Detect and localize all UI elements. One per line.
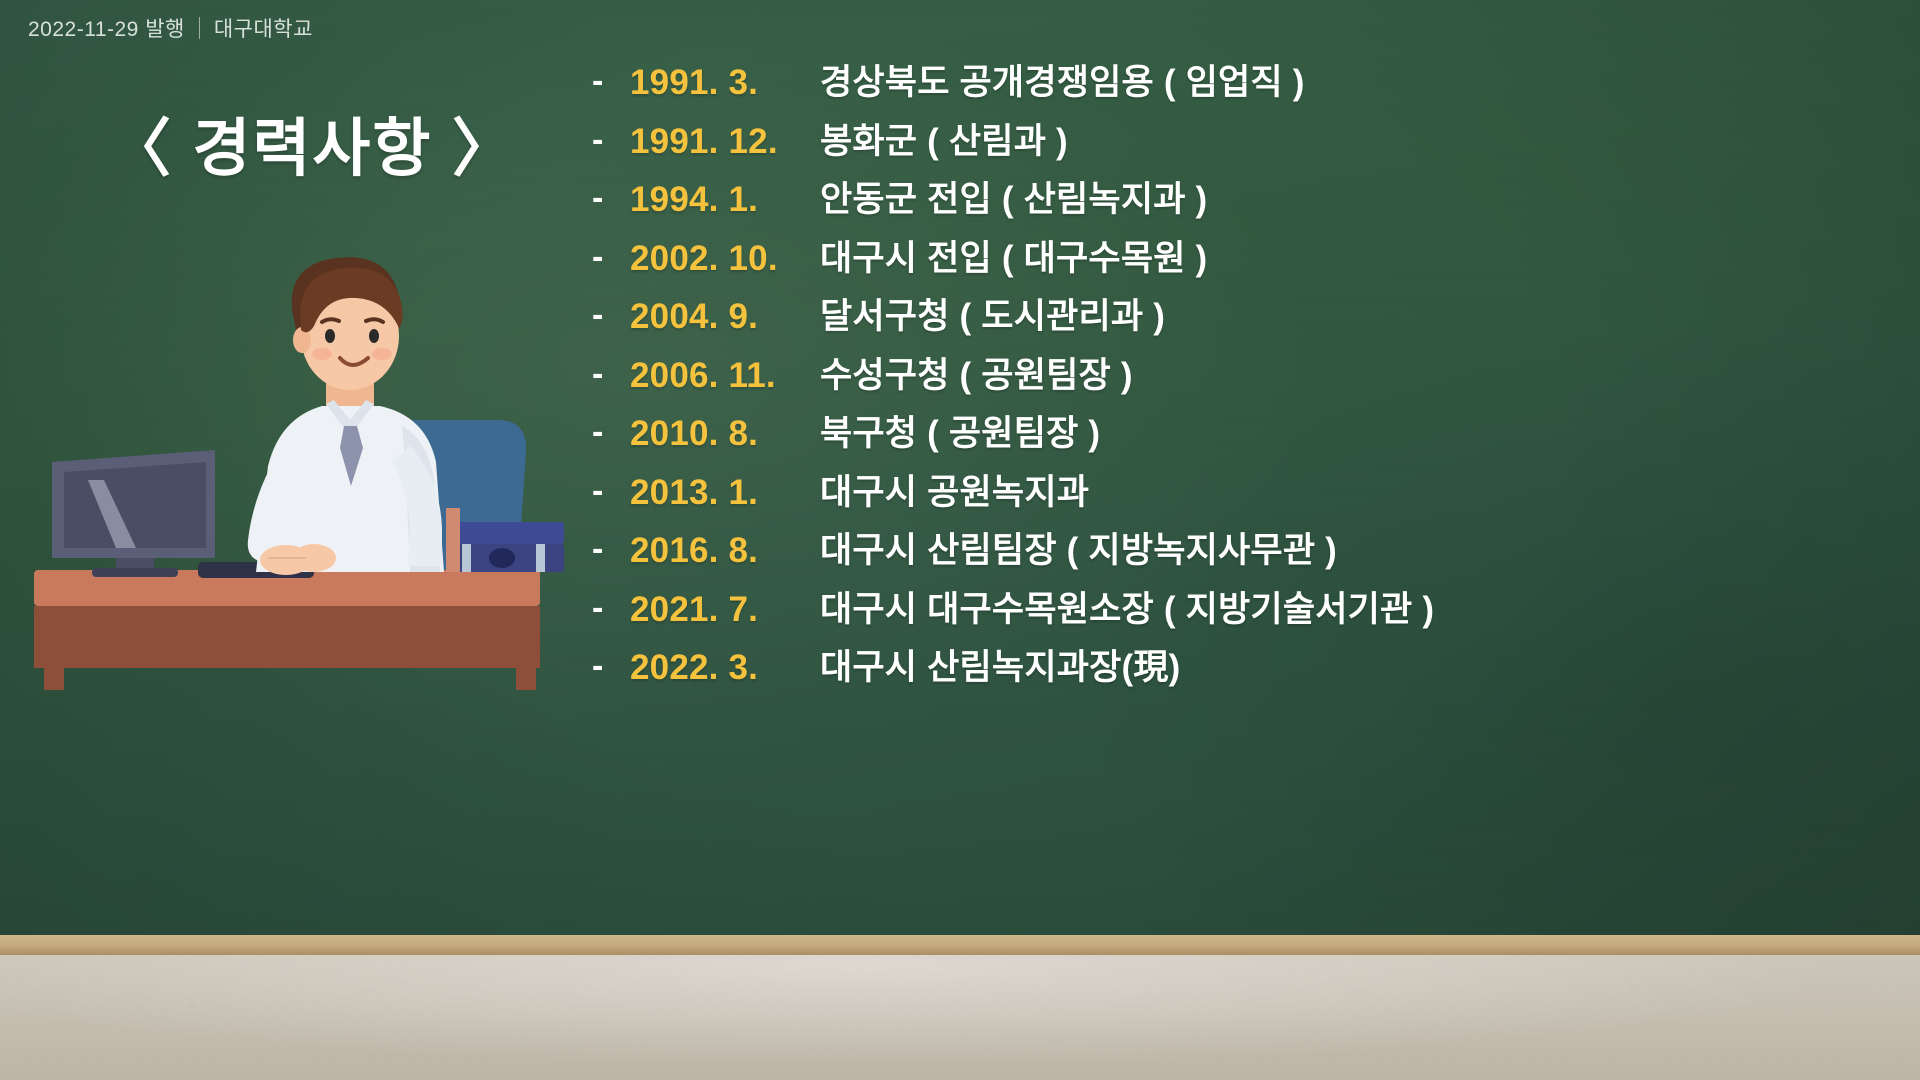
meta-divider xyxy=(199,17,200,39)
person-illustration xyxy=(248,257,444,575)
career-description: 달서구청 ( 도시관리과 ) xyxy=(820,288,1165,339)
publish-date: 2022-11-29 발행 xyxy=(28,13,185,43)
bullet-dash: - xyxy=(592,240,630,274)
list-item: - 2002. 10. 대구시 전입 ( 대구수목원 ) xyxy=(592,230,1892,289)
list-item: - 2022. 3. 대구시 산림녹지과장(現) xyxy=(592,639,1892,698)
list-item: - 2016. 8. 대구시 산림팀장 ( 지방녹지사무관 ) xyxy=(592,522,1892,581)
list-item: - 2013. 1. 대구시 공원녹지과 xyxy=(592,464,1892,523)
career-date: 1991. 3. xyxy=(630,63,820,103)
career-date: 2022. 3. xyxy=(630,648,820,688)
bullet-dash: - xyxy=(592,591,630,625)
bullet-dash: - xyxy=(592,532,630,566)
career-description: 북구청 ( 공원팀장 ) xyxy=(820,405,1100,456)
bullet-dash: - xyxy=(592,298,630,332)
bullet-dash: - xyxy=(592,123,630,157)
career-date: 2006. 11. xyxy=(630,356,820,396)
list-item: - 2004. 9. 달서구청 ( 도시관리과 ) xyxy=(592,288,1892,347)
career-description: 봉화군 ( 산림과 ) xyxy=(820,113,1068,164)
man-working-at-desk-illustration xyxy=(30,240,570,690)
slide-meta: 2022-11-29 발행 대구대학교 xyxy=(28,13,313,43)
list-item: - 1991. 12. 봉화군 ( 산림과 ) xyxy=(592,113,1892,172)
bullet-dash: - xyxy=(592,357,630,391)
career-date: 2013. 1. xyxy=(630,473,820,513)
wall-texture xyxy=(0,955,1920,1080)
career-description: 안동군 전입 ( 산림녹지과 ) xyxy=(820,171,1207,222)
career-date: 2004. 9. xyxy=(630,297,820,337)
career-date: 2002. 10. xyxy=(630,239,820,279)
list-item: - 2021. 7. 대구시 대구수목원소장 ( 지방기술서기관 ) xyxy=(592,581,1892,640)
career-date: 1991. 12. xyxy=(630,122,820,162)
wall-background xyxy=(0,955,1920,1080)
list-item: - 2010. 8. 북구청 ( 공원팀장 ) xyxy=(592,405,1892,464)
bullet-dash: - xyxy=(592,649,630,683)
chalkboard-ledge xyxy=(0,935,1920,955)
career-description: 수성구청 ( 공원팀장 ) xyxy=(820,347,1133,398)
organization-name: 대구대학교 xyxy=(214,13,313,43)
career-description: 대구시 전입 ( 대구수목원 ) xyxy=(820,230,1207,281)
presentation-slide: 2022-11-29 발행 대구대학교 〈 경력사항 〉 xyxy=(0,0,1920,1080)
bullet-dash: - xyxy=(592,64,630,98)
page-title: 〈 경력사항 〉 xyxy=(108,98,517,189)
career-history-list: - 1991. 3. 경상북도 공개경쟁임용 ( 임업직 ) - 1991. 1… xyxy=(592,54,1892,698)
career-description: 대구시 대구수목원소장 ( 지방기술서기관 ) xyxy=(820,581,1434,632)
career-description: 경상북도 공개경쟁임용 ( 임업직 ) xyxy=(820,54,1305,105)
career-description: 대구시 산림녹지과장(現) xyxy=(820,639,1180,690)
career-date: 1994. 1. xyxy=(630,180,820,220)
list-item: - 2006. 11. 수성구청 ( 공원팀장 ) xyxy=(592,347,1892,406)
list-item: - 1994. 1. 안동군 전입 ( 산림녹지과 ) xyxy=(592,171,1892,230)
bullet-dash: - xyxy=(592,181,630,215)
career-description: 대구시 산림팀장 ( 지방녹지사무관 ) xyxy=(820,522,1337,573)
career-date: 2016. 8. xyxy=(630,531,820,571)
bullet-dash: - xyxy=(592,415,630,449)
career-date: 2010. 8. xyxy=(630,414,820,454)
monitor-icon xyxy=(52,450,215,577)
career-description: 대구시 공원녹지과 xyxy=(820,464,1089,515)
list-item: - 1991. 3. 경상북도 공개경쟁임용 ( 임업직 ) xyxy=(592,54,1892,113)
bullet-dash: - xyxy=(592,474,630,508)
desk-icon xyxy=(34,570,540,690)
career-date: 2021. 7. xyxy=(630,590,820,630)
